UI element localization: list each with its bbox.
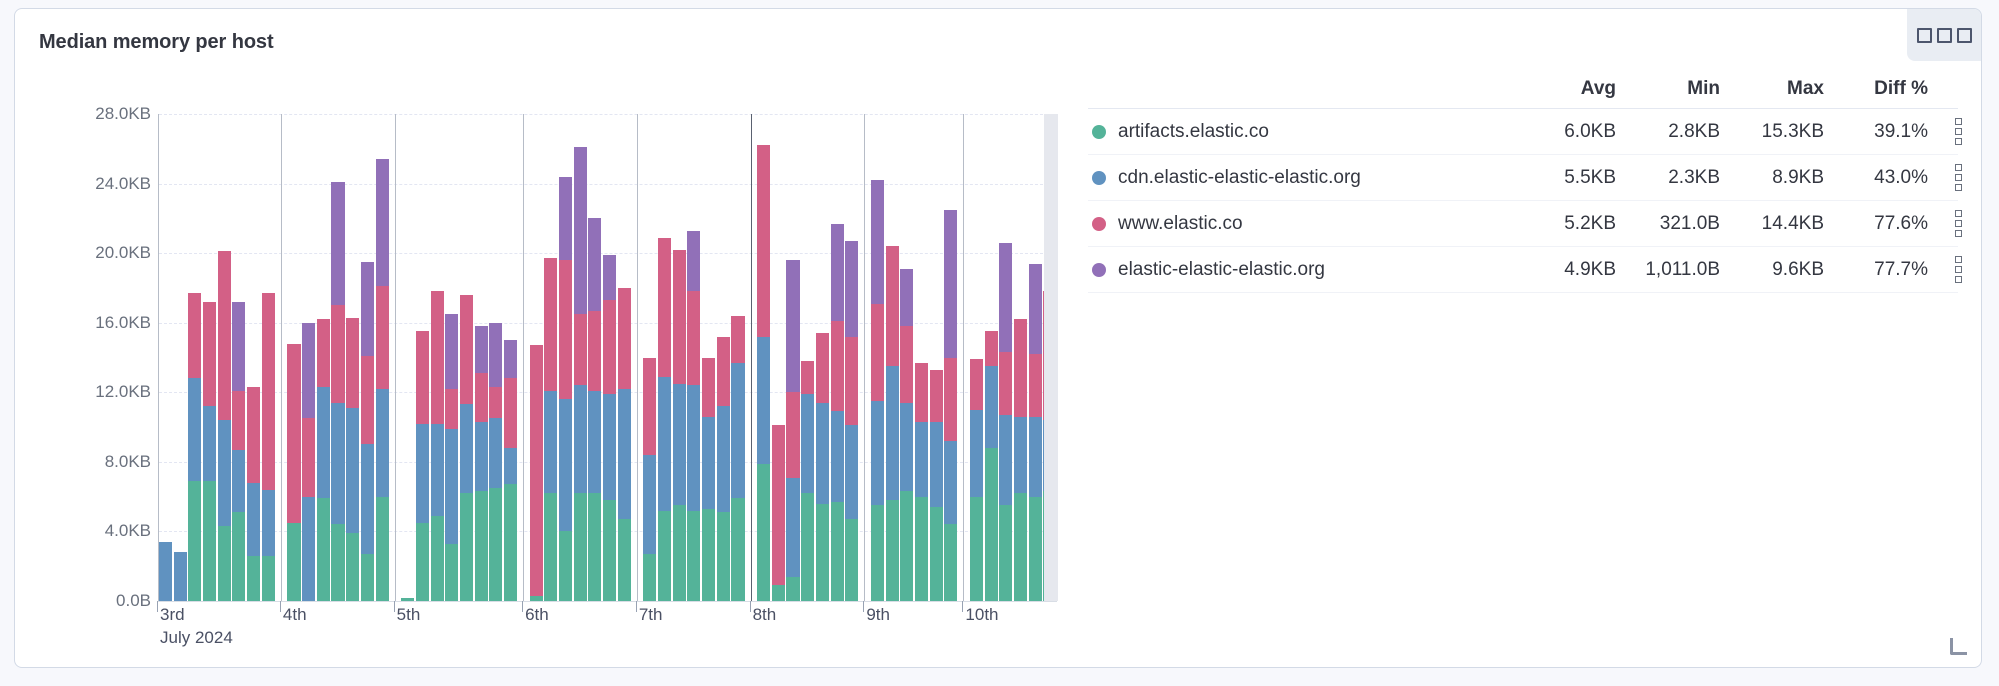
bar-segment — [757, 145, 770, 336]
bar-segment — [431, 424, 444, 516]
bar[interactable] — [1029, 114, 1042, 601]
bar-segment — [588, 493, 601, 601]
bar-segment — [816, 403, 829, 504]
bar-segment — [203, 481, 216, 601]
day-separator — [523, 114, 524, 601]
bar-segment — [731, 363, 744, 499]
x-axis-tick-label: 4th — [283, 605, 307, 625]
bar[interactable] — [188, 114, 201, 601]
bar[interactable] — [346, 114, 359, 601]
bar-segment — [801, 394, 814, 493]
resize-corner-icon[interactable] — [1950, 638, 1967, 655]
bar-segment — [985, 331, 998, 366]
legend-body: artifacts.elastic.co6.0KB2.8KB15.3KB39.1… — [1088, 109, 1958, 293]
y-axis-tick-label: 12.0KB — [15, 382, 151, 402]
bar[interactable] — [915, 114, 928, 601]
legend-label: cdn.elastic-elastic-elastic.org — [1118, 167, 1361, 189]
bar-segment — [559, 260, 572, 399]
bar[interactable] — [930, 114, 943, 601]
bar-segment — [331, 182, 344, 305]
tick-mark — [280, 601, 281, 612]
bar-segment — [831, 411, 844, 501]
bar-segment — [845, 425, 858, 519]
bar-segment — [831, 224, 844, 321]
bar-segment — [445, 389, 458, 429]
bar[interactable] — [489, 114, 502, 601]
bar-segment — [346, 408, 359, 533]
bar-segment — [416, 523, 429, 601]
bar-segment — [232, 391, 245, 450]
bar[interactable] — [886, 114, 899, 601]
bar-segment — [944, 524, 957, 601]
bar[interactable] — [302, 114, 315, 601]
legend-cell-diff: 39.1% — [1824, 121, 1928, 143]
legend-row[interactable]: elastic-elastic-elastic.org4.9KB1,011.0B… — [1088, 247, 1958, 293]
tick-mark — [750, 601, 751, 612]
bar[interactable] — [232, 114, 245, 601]
legend-cell-min: 321.0B — [1616, 213, 1720, 235]
tick-mark — [863, 601, 864, 612]
bar-segment — [331, 524, 344, 601]
bar-segment — [445, 429, 458, 544]
legend-label: www.elastic.co — [1118, 213, 1243, 235]
bar[interactable] — [757, 114, 770, 601]
bar[interactable] — [287, 114, 300, 601]
bar-segment — [287, 344, 300, 523]
day-separator — [751, 114, 752, 601]
x-axis-tick-label: 8th — [753, 605, 777, 625]
day-separator — [864, 114, 865, 601]
day-separator — [281, 114, 282, 601]
bar-segment — [944, 358, 957, 441]
bar-segment — [1014, 319, 1027, 416]
bar-segment — [658, 238, 671, 377]
bar-segment — [970, 410, 983, 497]
legend-cell-diff: 77.7% — [1824, 259, 1928, 281]
legend-cell-min: 2.3KB — [1616, 167, 1720, 189]
legend-cell-avg: 4.9KB — [1512, 259, 1616, 281]
bar-segment — [673, 250, 686, 384]
bar-segment — [361, 262, 374, 356]
bar-segment — [317, 498, 330, 601]
x-axis-tick-label: 5th — [397, 605, 421, 625]
bar-segment — [930, 422, 943, 507]
bar[interactable] — [460, 114, 473, 601]
legend-row[interactable]: cdn.elastic-elastic-elastic.org5.5KB2.3K… — [1088, 155, 1958, 201]
bar-segment — [786, 577, 799, 601]
bar-segment — [544, 391, 557, 494]
bar[interactable] — [658, 114, 671, 601]
bar-segment — [999, 415, 1012, 505]
bar-segment — [232, 302, 245, 391]
bar-segment — [445, 314, 458, 389]
bar-segment — [970, 359, 983, 409]
bar[interactable] — [772, 114, 785, 601]
bar-segment — [302, 418, 315, 496]
legend-series-name: cdn.elastic-elastic-elastic.org — [1088, 167, 1512, 189]
bar[interactable] — [831, 114, 844, 601]
tick-mark — [962, 601, 963, 612]
bar-segment — [999, 505, 1012, 601]
bar-segment — [915, 363, 928, 422]
bar-segment — [603, 255, 616, 300]
bar-segment — [702, 358, 715, 417]
bar[interactable] — [603, 114, 616, 601]
bar-segment — [475, 422, 488, 492]
bar-segment — [376, 389, 389, 497]
bar-segment — [588, 391, 601, 494]
bar-segment — [673, 384, 686, 506]
bar[interactable] — [900, 114, 913, 601]
bar-segment — [643, 455, 656, 554]
drag-handle-icon — [1955, 256, 1962, 283]
bar-segment — [475, 326, 488, 373]
bar-segment — [544, 493, 557, 601]
bar-segment — [188, 293, 201, 378]
legend-cell-max: 15.3KB — [1720, 121, 1824, 143]
legend-header-diff: Diff % — [1824, 78, 1928, 100]
bar-segment — [574, 385, 587, 493]
bar-segment — [559, 531, 572, 601]
bar-segment — [871, 304, 884, 401]
bar-segment — [331, 305, 344, 402]
bar-segment — [687, 511, 700, 601]
bar[interactable] — [643, 114, 656, 601]
legend-label: elastic-elastic-elastic.org — [1118, 259, 1325, 281]
bar-segment — [1014, 493, 1027, 601]
bar-segment — [886, 366, 899, 500]
bar[interactable] — [203, 114, 216, 601]
bar-segment — [317, 387, 330, 498]
bar-segment — [831, 321, 844, 411]
dashboard-panel: Median memory per host 28.0KB24.0KB20.0K… — [14, 8, 1982, 668]
legend-color-dot-icon — [1092, 171, 1106, 185]
bar-segment — [643, 358, 656, 455]
tick-mark — [636, 601, 637, 612]
bar-segment — [845, 519, 858, 601]
bar[interactable] — [845, 114, 858, 601]
bar-segment — [900, 269, 913, 326]
bar-segment — [1014, 417, 1027, 494]
bar[interactable] — [361, 114, 374, 601]
bar-segment — [460, 295, 473, 405]
legend-cell-diff: 77.6% — [1824, 213, 1928, 235]
bar-segment — [460, 404, 473, 493]
legend-cell-avg: 6.0KB — [1512, 121, 1616, 143]
y-axis-tick-label: 28.0KB — [15, 104, 151, 124]
bar-segment — [915, 497, 928, 601]
legend-header-min: Min — [1616, 78, 1720, 100]
tick-mark — [394, 601, 395, 612]
bar-segment — [900, 491, 913, 601]
partial-bucket-overlay — [1044, 114, 1058, 601]
bar-segment — [361, 356, 374, 445]
bar-segment — [262, 293, 275, 490]
bar-segment — [801, 493, 814, 601]
bar-segment — [944, 210, 957, 358]
bar[interactable] — [504, 114, 517, 601]
bar-segment — [717, 512, 730, 601]
bar-segment — [886, 500, 899, 601]
bar-segment — [658, 511, 671, 601]
legend-header-avg: Avg — [1512, 78, 1616, 100]
bar-segment — [757, 464, 770, 601]
legend-series-name: www.elastic.co — [1088, 213, 1512, 235]
bar-segment — [1029, 417, 1042, 497]
bar-segment — [530, 345, 543, 595]
panel-menu-button[interactable] — [1907, 9, 1981, 61]
legend-color-dot-icon — [1092, 125, 1106, 139]
bar-segment — [218, 526, 231, 601]
bar-segment — [475, 373, 488, 422]
legend-series-name: artifacts.elastic.co — [1088, 121, 1512, 143]
bar-segment — [731, 498, 744, 601]
bar[interactable] — [970, 114, 983, 601]
bar[interactable] — [687, 114, 700, 601]
bar[interactable] — [786, 114, 799, 601]
legend-cell-max: 14.4KB — [1720, 213, 1824, 235]
bar-segment — [504, 378, 517, 448]
bar-segment — [603, 500, 616, 601]
y-axis-tick-label: 20.0KB — [15, 243, 151, 263]
chart-container: 28.0KB24.0KB20.0KB16.0KB12.0KB8.0KB4.0KB… — [15, 61, 1075, 661]
bar[interactable] — [588, 114, 601, 601]
bar-segment — [489, 418, 502, 488]
bar-segment — [504, 484, 517, 601]
bar-segment — [302, 497, 315, 601]
bar[interactable] — [331, 114, 344, 601]
bar-segment — [772, 425, 785, 585]
bar[interactable] — [475, 114, 488, 601]
legend-row[interactable]: artifacts.elastic.co6.0KB2.8KB15.3KB39.1… — [1088, 109, 1958, 155]
bar-segment — [871, 180, 884, 303]
x-axis-sublabel: July 2024 — [160, 628, 233, 648]
bar[interactable] — [574, 114, 587, 601]
bar-segment — [786, 260, 799, 392]
bar-segment — [431, 291, 444, 423]
bar-segment — [159, 542, 172, 601]
bar-segment — [1029, 497, 1042, 601]
bar-segment — [786, 392, 799, 477]
bar-segment — [504, 448, 517, 485]
bar[interactable] — [416, 114, 429, 601]
drag-handle-icon — [1955, 118, 1962, 145]
bar-segment — [489, 387, 502, 418]
x-axis: 3rdJuly 20244th5th6th7th8th9th10th — [158, 601, 1078, 661]
legend-label: artifacts.elastic.co — [1118, 121, 1269, 143]
bar-segment — [361, 554, 374, 601]
bar[interactable] — [673, 114, 686, 601]
bar-segment — [574, 493, 587, 601]
drag-handle-icon — [1955, 210, 1962, 237]
legend-row-actions-button[interactable] — [1928, 164, 1982, 191]
bar-segment — [930, 370, 943, 422]
legend-cell-avg: 5.2KB — [1512, 213, 1616, 235]
bar[interactable] — [544, 114, 557, 601]
bar[interactable] — [618, 114, 631, 601]
bar[interactable] — [985, 114, 998, 601]
page-title: Median memory per host — [39, 31, 274, 54]
bar-segment — [618, 389, 631, 519]
bar-segment — [845, 337, 858, 426]
bar-segment — [203, 302, 216, 406]
bar-segment — [416, 331, 429, 423]
y-axis: 28.0KB24.0KB20.0KB16.0KB12.0KB8.0KB4.0KB… — [15, 61, 151, 661]
bar-segment — [174, 552, 187, 601]
bar-segment — [757, 337, 770, 464]
bar-segment — [930, 507, 943, 601]
tick-mark — [522, 601, 523, 612]
bar-segment — [658, 377, 671, 511]
bar-segment — [871, 505, 884, 601]
bar-segment — [262, 556, 275, 601]
bar[interactable] — [174, 114, 187, 601]
bar-segment — [999, 243, 1012, 353]
bar[interactable] — [731, 114, 744, 601]
bar-segment — [232, 450, 245, 513]
y-axis-tick-label: 24.0KB — [15, 174, 151, 194]
bar-segment — [1029, 264, 1042, 354]
bar-segment — [816, 333, 829, 403]
bar-segment — [361, 444, 374, 554]
bar-segment — [786, 478, 799, 577]
bar-segment — [416, 424, 429, 523]
bar[interactable] — [376, 114, 389, 601]
bar-segment — [999, 352, 1012, 415]
bar-segment — [618, 519, 631, 601]
bar[interactable] — [999, 114, 1012, 601]
bar-segment — [845, 241, 858, 337]
bar-segment — [687, 291, 700, 385]
legend-cell-min: 1,011.0B — [1616, 259, 1720, 281]
legend-cell-min: 2.8KB — [1616, 121, 1720, 143]
bar[interactable] — [317, 114, 330, 601]
bar-segment — [376, 286, 389, 389]
legend-cell-max: 8.9KB — [1720, 167, 1824, 189]
legend-table: Avg Min Max Diff % artifacts.elastic.co6… — [1088, 69, 1958, 293]
legend-row-actions-button[interactable] — [1928, 256, 1982, 283]
bar-segment — [504, 340, 517, 378]
bar-segment — [816, 504, 829, 601]
bar-segment — [915, 422, 928, 497]
legend-color-dot-icon — [1092, 217, 1106, 231]
bar-segment — [900, 403, 913, 492]
day-separator — [158, 114, 159, 601]
bar[interactable] — [871, 114, 884, 601]
x-axis-tick-label: 7th — [639, 605, 663, 625]
legend-header-max: Max — [1720, 78, 1824, 100]
day-separator — [395, 114, 396, 601]
bar-segment — [687, 385, 700, 510]
x-axis-tick-label: 9th — [866, 605, 890, 625]
bar-segment — [376, 159, 389, 286]
grip-menu-icon — [1917, 28, 1972, 43]
bar-segment — [218, 420, 231, 526]
bar-segment — [247, 556, 260, 601]
legend-color-dot-icon — [1092, 263, 1106, 277]
bar-segment — [871, 401, 884, 505]
legend-cell-avg: 5.5KB — [1512, 167, 1616, 189]
bar-segment — [702, 417, 715, 509]
bar-segment — [489, 323, 502, 387]
bar-segment — [302, 323, 315, 419]
plot-area — [158, 114, 1058, 601]
bar[interactable] — [702, 114, 715, 601]
bar-segment — [717, 406, 730, 512]
bar-segment — [247, 387, 260, 483]
bar-segment — [944, 441, 957, 524]
bar-segment — [603, 300, 616, 394]
day-separator — [963, 114, 964, 601]
bar[interactable] — [218, 114, 231, 601]
legend-cell-diff: 43.0% — [1824, 167, 1928, 189]
bar[interactable] — [159, 114, 172, 601]
bar-segment — [445, 544, 458, 601]
bar-series-layer — [159, 114, 1058, 601]
drag-handle-icon — [1955, 164, 1962, 191]
bar[interactable] — [530, 114, 543, 601]
bar-segment — [203, 406, 216, 481]
bar-segment — [831, 502, 844, 601]
bar[interactable] — [801, 114, 814, 601]
x-axis-tick-label: 3rd — [160, 605, 185, 625]
bar[interactable] — [944, 114, 957, 601]
bar-segment — [317, 319, 330, 387]
bar-segment — [331, 403, 344, 525]
bar[interactable] — [262, 114, 275, 601]
bar-segment — [287, 523, 300, 601]
bar[interactable] — [1014, 114, 1027, 601]
bar-segment — [188, 481, 201, 601]
bar[interactable] — [816, 114, 829, 601]
bar-segment — [544, 258, 557, 390]
bar-segment — [489, 488, 502, 601]
bar-segment — [900, 326, 913, 403]
bar[interactable] — [401, 114, 414, 601]
bar[interactable] — [717, 114, 730, 601]
bar-segment — [731, 316, 744, 363]
legend-row-actions-button[interactable] — [1928, 118, 1982, 145]
bar-segment — [717, 337, 730, 407]
bar-segment — [886, 246, 899, 366]
bar-segment — [574, 314, 587, 385]
bar-segment — [588, 311, 601, 391]
day-separator — [637, 114, 638, 601]
bar[interactable] — [431, 114, 444, 601]
bar-segment — [970, 497, 983, 601]
bar-segment — [985, 366, 998, 448]
bar-segment — [985, 448, 998, 601]
y-axis-tick-label: 8.0KB — [15, 452, 151, 472]
bar-segment — [376, 497, 389, 601]
bar[interactable] — [247, 114, 260, 601]
bar-segment — [559, 399, 572, 531]
legend-row[interactable]: www.elastic.co5.2KB321.0B14.4KB77.6% — [1088, 201, 1958, 247]
bar-segment — [588, 218, 601, 310]
bar[interactable] — [445, 114, 458, 601]
bar-segment — [559, 177, 572, 260]
y-axis-tick-label: 16.0KB — [15, 313, 151, 333]
bar-segment — [346, 533, 359, 601]
legend-series-name: elastic-elastic-elastic.org — [1088, 259, 1512, 281]
y-axis-tick-label: 4.0KB — [15, 521, 151, 541]
bar-segment — [247, 483, 260, 556]
bar[interactable] — [559, 114, 572, 601]
bar-segment — [218, 251, 231, 420]
bar-segment — [475, 491, 488, 601]
legend-row-actions-button[interactable] — [1928, 210, 1982, 237]
legend-header-row: Avg Min Max Diff % — [1088, 69, 1958, 109]
